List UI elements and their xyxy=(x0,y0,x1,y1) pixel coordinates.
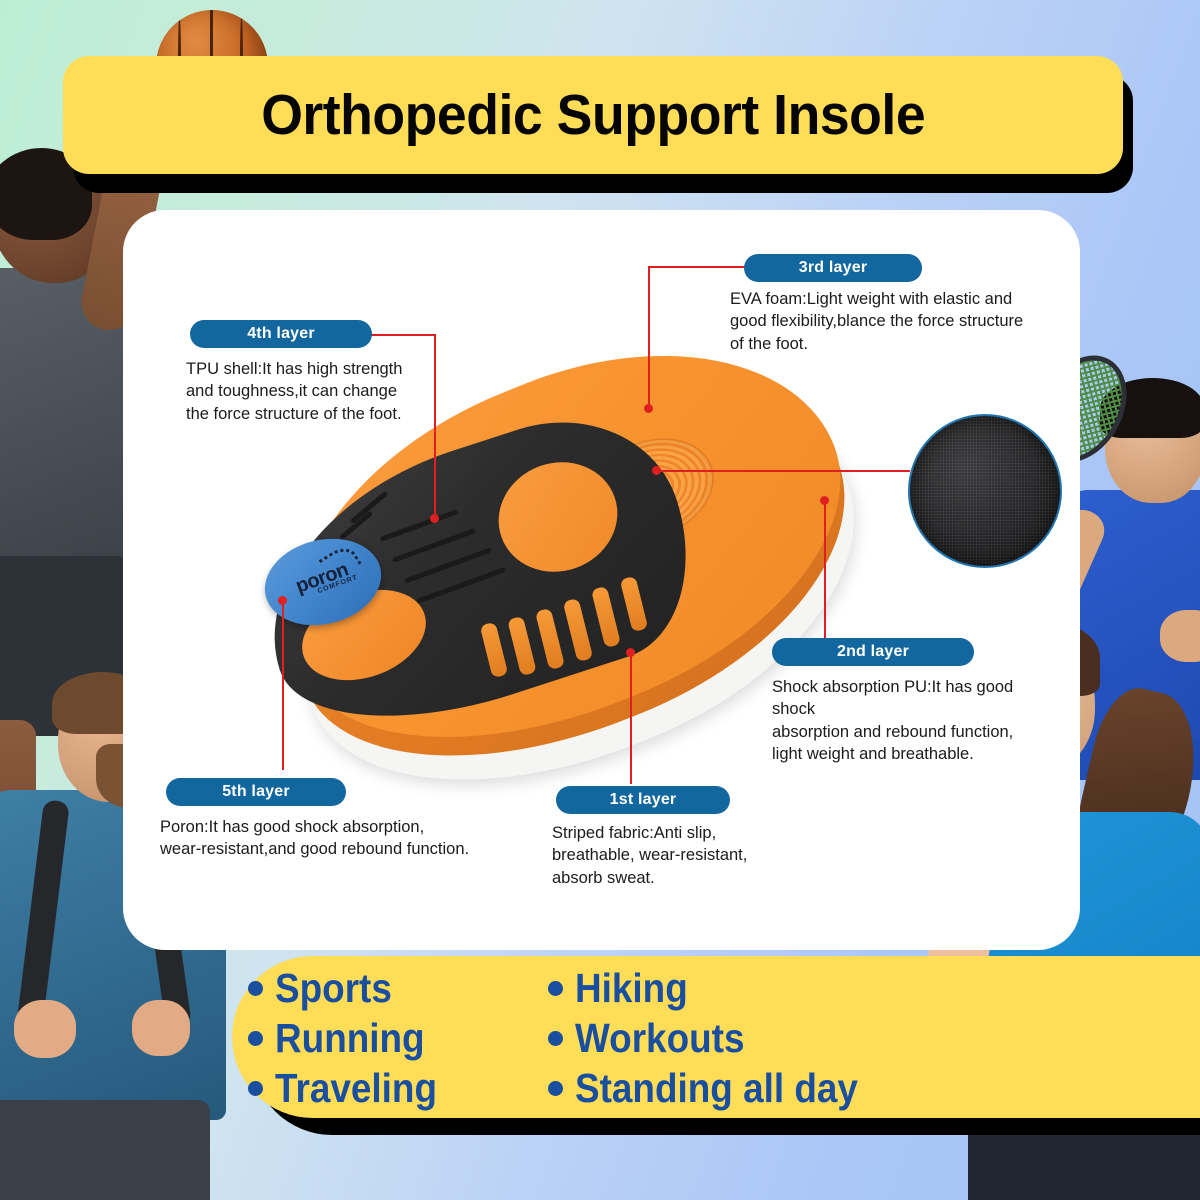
leader-dot-layer2 xyxy=(820,496,829,505)
description-layer-5: Poron:It has good shock absorption, wear… xyxy=(160,816,520,861)
leader-dot-layer4 xyxy=(430,514,439,523)
leader-line-fabric xyxy=(658,470,910,472)
page-title: Orthopedic Support Insole xyxy=(261,82,925,148)
striped-fabric-detail-circle xyxy=(908,414,1062,568)
title-banner: Orthopedic Support Insole xyxy=(63,56,1123,174)
leader-line-layer5 xyxy=(282,600,284,770)
badge-layer-2[interactable]: 2nd layer xyxy=(772,638,974,666)
hiker-hand-left xyxy=(14,1000,76,1058)
benefit-item-sports: Sports xyxy=(248,963,548,1013)
bullet-dot-icon xyxy=(248,981,263,996)
description-layer-4: TPU shell:It has high strength and tough… xyxy=(186,358,436,425)
bullet-dot-icon xyxy=(248,1081,263,1096)
bullet-dot-icon xyxy=(248,1031,263,1046)
badge-layer-4[interactable]: 4th layer xyxy=(190,320,372,348)
badge-layer-1[interactable]: 1st layer xyxy=(556,786,730,814)
bullet-dot-icon xyxy=(548,1081,563,1096)
leader-line-layer3 xyxy=(698,266,746,268)
benefit-label: Workouts xyxy=(575,1015,744,1062)
benefit-item-running: Running xyxy=(248,1013,548,1063)
bullet-dot-icon xyxy=(548,981,563,996)
benefit-label: Sports xyxy=(275,965,392,1012)
leader-line-layer3 xyxy=(648,266,700,268)
leader-line-layer4 xyxy=(370,334,436,336)
benefit-label: Hiking xyxy=(575,965,688,1012)
leader-line-layer2 xyxy=(824,500,826,640)
infographic-canvas: poron COMFORT 4th layer TPU shell:It has… xyxy=(0,0,1200,1200)
benefit-item-standing: Standing all day xyxy=(548,1063,1008,1113)
benefit-label: Running xyxy=(275,1015,425,1062)
leader-line-layer3 xyxy=(648,266,650,408)
benefit-item-traveling: Traveling xyxy=(248,1063,548,1113)
leader-dot-layer3 xyxy=(644,404,653,413)
leader-dot-layer1 xyxy=(626,648,635,657)
badge-layer-3[interactable]: 3rd layer xyxy=(744,254,922,282)
hiker-shorts xyxy=(0,1100,210,1200)
benefit-label: Standing all day xyxy=(575,1065,858,1112)
badge-layer-5[interactable]: 5th layer xyxy=(166,778,346,806)
description-layer-2: Shock absorption PU:It has good shock ab… xyxy=(772,676,1034,765)
leader-dot-fabric xyxy=(652,466,661,475)
description-layer-3: EVA foam:Light weight with elastic and g… xyxy=(730,288,1070,355)
leader-dot-layer5 xyxy=(278,596,287,605)
bullet-dot-icon xyxy=(548,1031,563,1046)
badminton-player-hand xyxy=(1160,610,1200,662)
leader-line-layer1 xyxy=(630,652,632,784)
benefit-item-workouts: Workouts xyxy=(548,1013,1008,1063)
hiker-hand-right xyxy=(132,1000,190,1056)
description-layer-1: Striped fabric:Anti slip, breathable, we… xyxy=(552,822,802,889)
benefits-list: Sports Hiking Running Workouts Traveling… xyxy=(248,962,1008,1114)
benefit-item-hiking: Hiking xyxy=(548,963,1008,1013)
benefit-label: Traveling xyxy=(275,1065,437,1112)
